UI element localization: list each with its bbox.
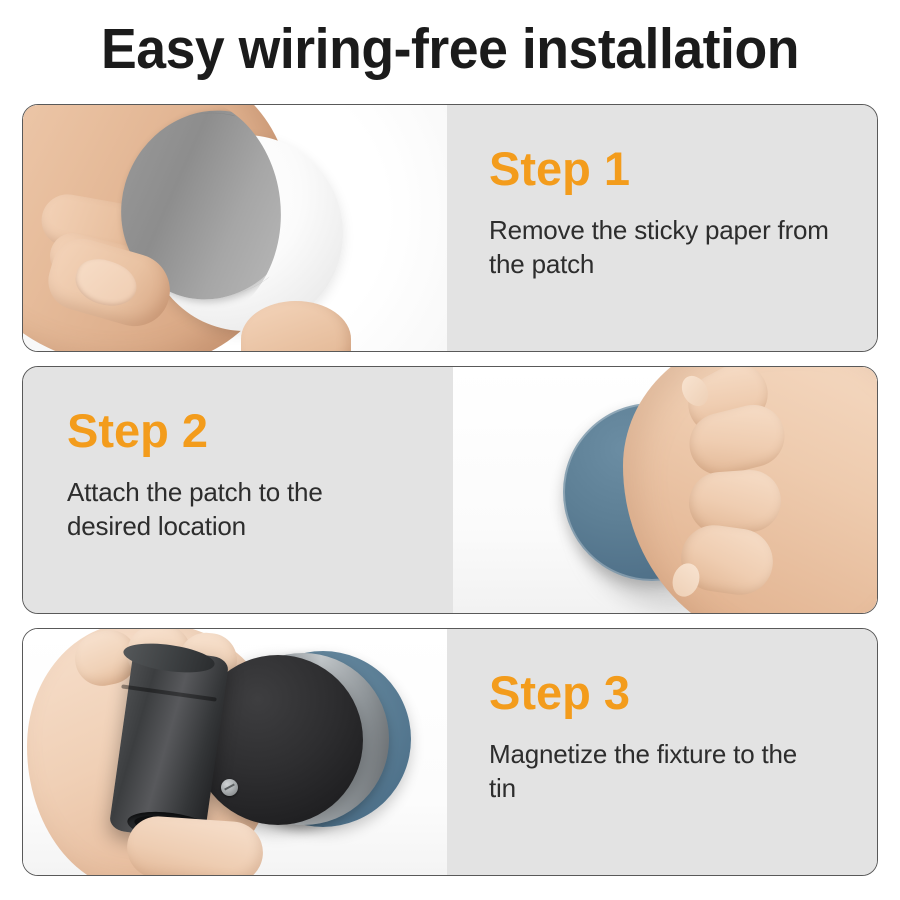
step-2-description: Attach the patch to the desired location [67, 475, 407, 543]
step-panel-3: Step 3 Magnetize the fixture to the tin [22, 628, 878, 876]
page-title: Easy wiring-free installation [27, 14, 873, 84]
hand-attaching-blue-patch-photo [453, 367, 877, 613]
step-3-copy: Step 3 Magnetize the fixture to the tin [447, 629, 877, 875]
step-1-copy: Step 1 Remove the sticky paper from the … [447, 105, 877, 351]
hand-magnetizing-fixture-photo [23, 629, 447, 875]
step-1-description: Remove the sticky paper from the patch [489, 213, 829, 281]
step-3-heading: Step 3 [489, 667, 877, 719]
steps-list: Step 1 Remove the sticky paper from the … [22, 104, 878, 872]
fixture-screw [221, 779, 238, 796]
step-1-heading: Step 1 [489, 143, 877, 195]
hand-peeling-sticky-paper-photo [23, 105, 447, 351]
step-3-description: Magnetize the fixture to the tin [489, 737, 829, 805]
finger-shape [125, 814, 265, 875]
step-panel-1: Step 1 Remove the sticky paper from the … [22, 104, 878, 352]
step-2-heading: Step 2 [67, 405, 453, 457]
step-panel-2: Step 2 Attach the patch to the desired l… [22, 366, 878, 614]
step-2-copy: Step 2 Attach the patch to the desired l… [23, 367, 453, 613]
